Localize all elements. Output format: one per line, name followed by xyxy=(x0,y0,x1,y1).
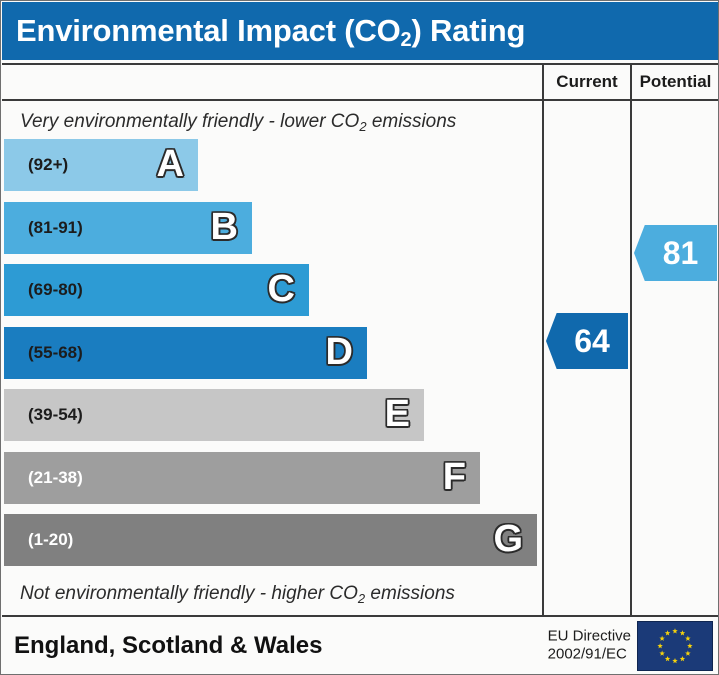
band-f: (21-38)F xyxy=(4,452,480,504)
page-title-main: Environmental Impact (CO xyxy=(16,13,401,48)
column-header-potential: Potential xyxy=(630,65,719,99)
caption-bottom-post: emissions xyxy=(365,583,455,604)
current-rating-badge: 64 xyxy=(546,313,628,369)
band-letter-c: C xyxy=(268,270,295,308)
potential-rating-badge: 81 xyxy=(634,225,717,281)
title-bar: Environmental Impact (CO2) Rating xyxy=(2,2,719,60)
band-c: (69-80)C xyxy=(4,264,309,316)
band-letter-e: E xyxy=(385,395,410,433)
band-b: (81-91)B xyxy=(4,202,252,254)
column-header-blank xyxy=(2,65,542,99)
band-letter-g: G xyxy=(493,520,523,558)
eu-directive-line-1: EU Directive xyxy=(548,627,631,646)
caption-bottom-subscript: 2 xyxy=(358,591,365,606)
caption-bottom-pre: Not environmentally friendly - higher CO xyxy=(20,583,358,604)
caption-bottom: Not environmentally friendly - higher CO… xyxy=(20,583,455,605)
band-range-b: (81-91) xyxy=(4,218,83,238)
page-title: Environmental Impact (CO2) Rating xyxy=(2,13,525,49)
band-letter-f: F xyxy=(443,458,466,496)
current-rating-value: 64 xyxy=(574,323,610,360)
potential-rating-value: 81 xyxy=(663,235,699,272)
band-letter-b: B xyxy=(211,208,238,246)
band-range-a: (92+) xyxy=(4,155,68,175)
band-g: (1-20)G xyxy=(4,514,537,566)
band-range-e: (39-54) xyxy=(4,405,83,425)
caption-top-post: emissions xyxy=(367,111,457,132)
footer-bar: England, Scotland & Wales EU Directive 2… xyxy=(2,615,719,674)
band-range-g: (1-20) xyxy=(4,530,73,550)
column-divider-potential xyxy=(630,101,632,615)
band-d: (55-68)D xyxy=(4,327,367,379)
column-header-current: Current xyxy=(542,65,630,99)
caption-top: Very environmentally friendly - lower CO… xyxy=(20,111,456,133)
band-range-f: (21-38) xyxy=(4,468,83,488)
epc-environmental-impact-chart: Environmental Impact (CO2) Rating Curren… xyxy=(0,0,719,675)
column-divider-current xyxy=(542,101,544,615)
band-letter-a: A xyxy=(157,145,184,183)
footer-region-label: England, Scotland & Wales xyxy=(2,632,322,660)
band-letter-d: D xyxy=(326,333,353,371)
caption-top-subscript: 2 xyxy=(359,119,366,134)
band-a: (92+)A xyxy=(4,139,198,191)
caption-top-pre: Very environmentally friendly - lower CO xyxy=(20,111,359,132)
eu-flag-icon xyxy=(637,621,713,671)
band-range-c: (69-80) xyxy=(4,280,83,300)
ratings-body: Very environmentally friendly - lower CO… xyxy=(2,101,719,615)
band-e: (39-54)E xyxy=(4,389,424,441)
eu-directive-label: EU Directive 2002/91/EC xyxy=(548,627,631,665)
eu-flag-stars xyxy=(638,622,712,670)
band-range-d: (55-68) xyxy=(4,343,83,363)
page-title-subscript: 2 xyxy=(401,29,412,51)
page-title-tail: ) Rating xyxy=(411,13,525,48)
column-header-row: Current Potential xyxy=(2,63,719,101)
eu-directive-line-2: 2002/91/EC xyxy=(548,646,631,665)
